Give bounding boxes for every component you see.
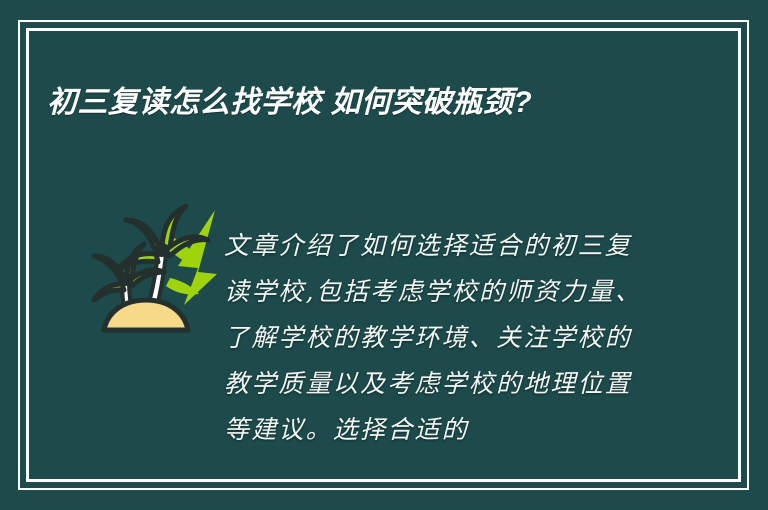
palm-island-icon: [82, 192, 222, 337]
sand-mound: [104, 300, 188, 330]
article-cover-card: 初三复读怎么找学校 如何突破瓶颈?: [0, 0, 768, 510]
page-title: 初三复读怎么找学校 如何突破瓶颈?: [47, 80, 687, 125]
card-content: 初三复读怎么找学校 如何突破瓶颈?: [26, 28, 741, 482]
article-summary-text: 文章介绍了如何选择适合的初三复读学校,包括考虑学校的师资力量、了解学校的教学环境…: [224, 223, 656, 453]
